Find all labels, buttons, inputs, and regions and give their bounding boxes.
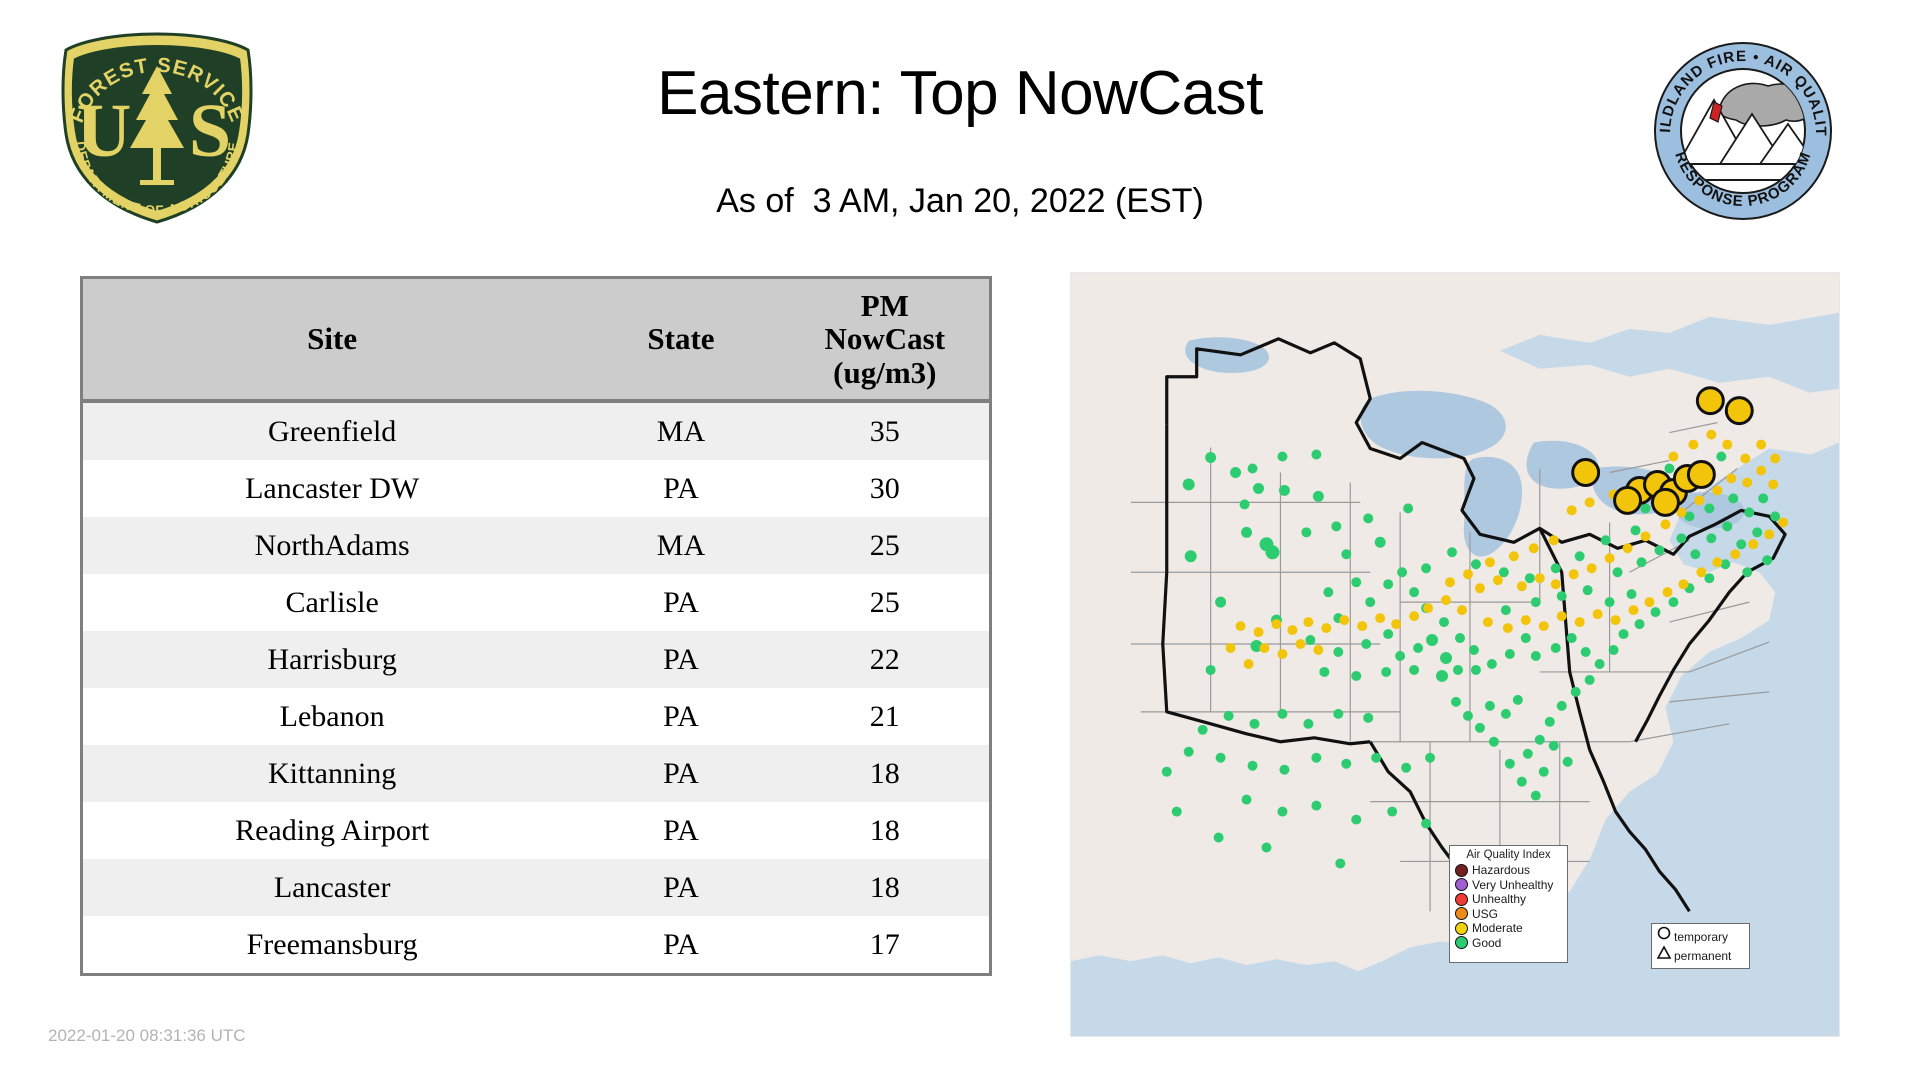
table-row: Reading AirportPA18 [83, 802, 989, 859]
state-cell: PA [581, 802, 780, 859]
aqi-legend-swatch [1455, 907, 1468, 920]
table-row: HarrisburgPA22 [83, 631, 989, 688]
aqi-legend-label: Good [1472, 936, 1501, 950]
site-type-temporary: temporary [1656, 927, 1745, 946]
column-header-pm-line2: NowCast [781, 322, 989, 355]
site-cell: Greenfield [83, 401, 581, 460]
table-header-row: Site State PM NowCast (ug/m3) [83, 279, 989, 401]
aqi-legend-item: Hazardous [1455, 863, 1562, 878]
pm-cell: 18 [781, 802, 989, 859]
aqi-legend-item: Moderate [1455, 921, 1562, 936]
aqi-legend-item: Good [1455, 936, 1562, 951]
column-header-pm-nowcast: PM NowCast (ug/m3) [781, 279, 989, 401]
pm-cell: 22 [781, 631, 989, 688]
pm-cell: 18 [781, 745, 989, 802]
pm-cell: 21 [781, 688, 989, 745]
footer-timestamp: 2022-01-20 08:31:36 UTC [48, 1026, 246, 1046]
table-row: FreemansburgPA17 [83, 916, 989, 973]
circle-outline-icon [1656, 926, 1674, 947]
state-cell: PA [581, 859, 780, 916]
site-type-temporary-label: temporary [1674, 930, 1728, 944]
state-cell: PA [581, 916, 780, 973]
table-row: CarlislePA25 [83, 574, 989, 631]
pm-cell: 18 [781, 859, 989, 916]
aqi-legend-swatch [1455, 878, 1468, 891]
eastern-us-aqi-map[interactable]: Air Quality Index HazardousVery Unhealth… [1070, 272, 1840, 1037]
site-cell: Lancaster DW [83, 460, 581, 517]
site-cell: Carlisle [83, 574, 581, 631]
highlight-site-lancaster-dw [1615, 487, 1641, 513]
column-header-pm-line1: PM [781, 289, 989, 322]
aqi-legend-item: Unhealthy [1455, 892, 1562, 907]
pm-cell: 25 [781, 574, 989, 631]
site-type-legend: temporary permanent [1651, 923, 1750, 969]
aqi-legend: Air Quality Index HazardousVery Unhealth… [1449, 845, 1568, 963]
table-row: NorthAdamsMA25 [83, 517, 989, 574]
triangle-outline-icon [1656, 945, 1674, 966]
aqi-legend-swatch [1455, 893, 1468, 906]
page-subtitle: As of 3 AM, Jan 20, 2022 (EST) [0, 182, 1920, 221]
aqi-legend-label: Unhealthy [1472, 892, 1526, 906]
table-row: Lancaster DWPA30 [83, 460, 989, 517]
state-cell: MA [581, 401, 780, 460]
aqi-legend-item: Very Unhealthy [1455, 878, 1562, 893]
top-nowcast-table: Site State PM NowCast (ug/m3) Greenfield… [80, 276, 992, 976]
site-cell: Kittanning [83, 745, 581, 802]
site-type-permanent-label: permanent [1674, 949, 1731, 963]
highlight-site-northadams [1726, 398, 1752, 424]
state-cell: PA [581, 574, 780, 631]
aqi-legend-label: Moderate [1472, 921, 1523, 935]
site-cell: Lebanon [83, 688, 581, 745]
page-title: Eastern: Top NowCast [0, 58, 1920, 129]
aqi-legend-swatch [1455, 922, 1468, 935]
site-cell: Reading Airport [83, 802, 581, 859]
aqi-legend-swatch [1455, 864, 1468, 877]
pm-cell: 17 [781, 916, 989, 973]
column-header-pm-line3: (ug/m3) [781, 356, 989, 389]
site-cell: Lancaster [83, 859, 581, 916]
highlight-site-lancaster [1652, 489, 1678, 515]
column-header-state: State [581, 279, 780, 401]
aqi-legend-label: USG [1472, 907, 1498, 921]
column-header-site: Site [83, 279, 581, 401]
state-cell: PA [581, 460, 780, 517]
highlight-site-kittanning [1573, 460, 1599, 486]
highlight-site-greenfield [1697, 388, 1723, 414]
pm-cell: 25 [781, 517, 989, 574]
aqi-legend-label: Hazardous [1472, 863, 1530, 877]
pm-cell: 30 [781, 460, 989, 517]
table-row: GreenfieldMA35 [83, 401, 989, 460]
site-cell: Harrisburg [83, 631, 581, 688]
aqi-legend-label: Very Unhealthy [1472, 878, 1553, 892]
table-row: LancasterPA18 [83, 859, 989, 916]
state-cell: PA [581, 631, 780, 688]
highlight-site-freemansburg [1688, 462, 1714, 488]
site-cell: NorthAdams [83, 517, 581, 574]
state-cell: PA [581, 745, 780, 802]
state-cell: MA [581, 517, 780, 574]
table-row: KittanningPA18 [83, 745, 989, 802]
aqi-legend-swatch [1455, 936, 1468, 949]
site-cell: Freemansburg [83, 916, 581, 973]
aqi-legend-title: Air Quality Index [1455, 849, 1562, 861]
state-cell: PA [581, 688, 780, 745]
aqi-legend-item: USG [1455, 907, 1562, 922]
pm-cell: 35 [781, 401, 989, 460]
table-row: LebanonPA21 [83, 688, 989, 745]
site-type-permanent: permanent [1656, 946, 1745, 965]
